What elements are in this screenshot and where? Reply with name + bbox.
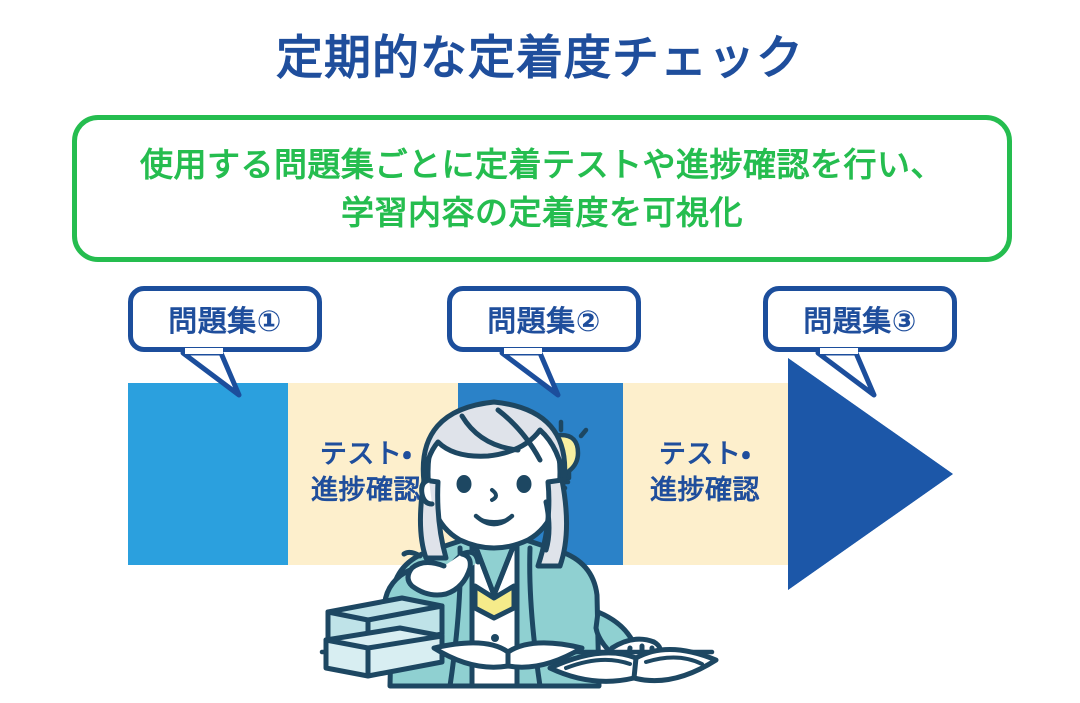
callout-box: 使用する問題集ごとに定着テストや進捗確認を行い、 学習内容の定着度を可視化 [72,115,1012,262]
speech-bubble-workbook-2[interactable]: 問題集② [447,286,641,352]
infographic-canvas: 定期的な定着度チェック 使用する問題集ごとに定着テストや進捗確認を行い、 学習内… [0,0,1080,703]
speech-bubble-tail [500,351,562,397]
speech-bubble-tail [181,351,243,397]
speech-bubble-label: 問題集② [487,298,601,340]
arrow-segment-workbook-1 [128,383,288,565]
callout-text: 使用する問題集ごとに定着テストや進捗確認を行い、 学習内容の定着度を可視化 [140,141,944,237]
speech-bubble-workbook-1[interactable]: 問題集① [128,286,322,352]
speech-bubble-label: 問題集③ [803,298,917,340]
eye-left [457,475,472,493]
stacked-books [326,598,442,676]
student-illustration [312,390,722,686]
speech-bubble-workbook-3[interactable]: 問題集③ [763,286,957,352]
page-title: 定期的な定着度チェック [0,30,1080,86]
speech-bubble-tail [816,351,878,397]
speech-bubble-label: 問題集① [168,298,282,340]
eye-right [517,475,532,493]
